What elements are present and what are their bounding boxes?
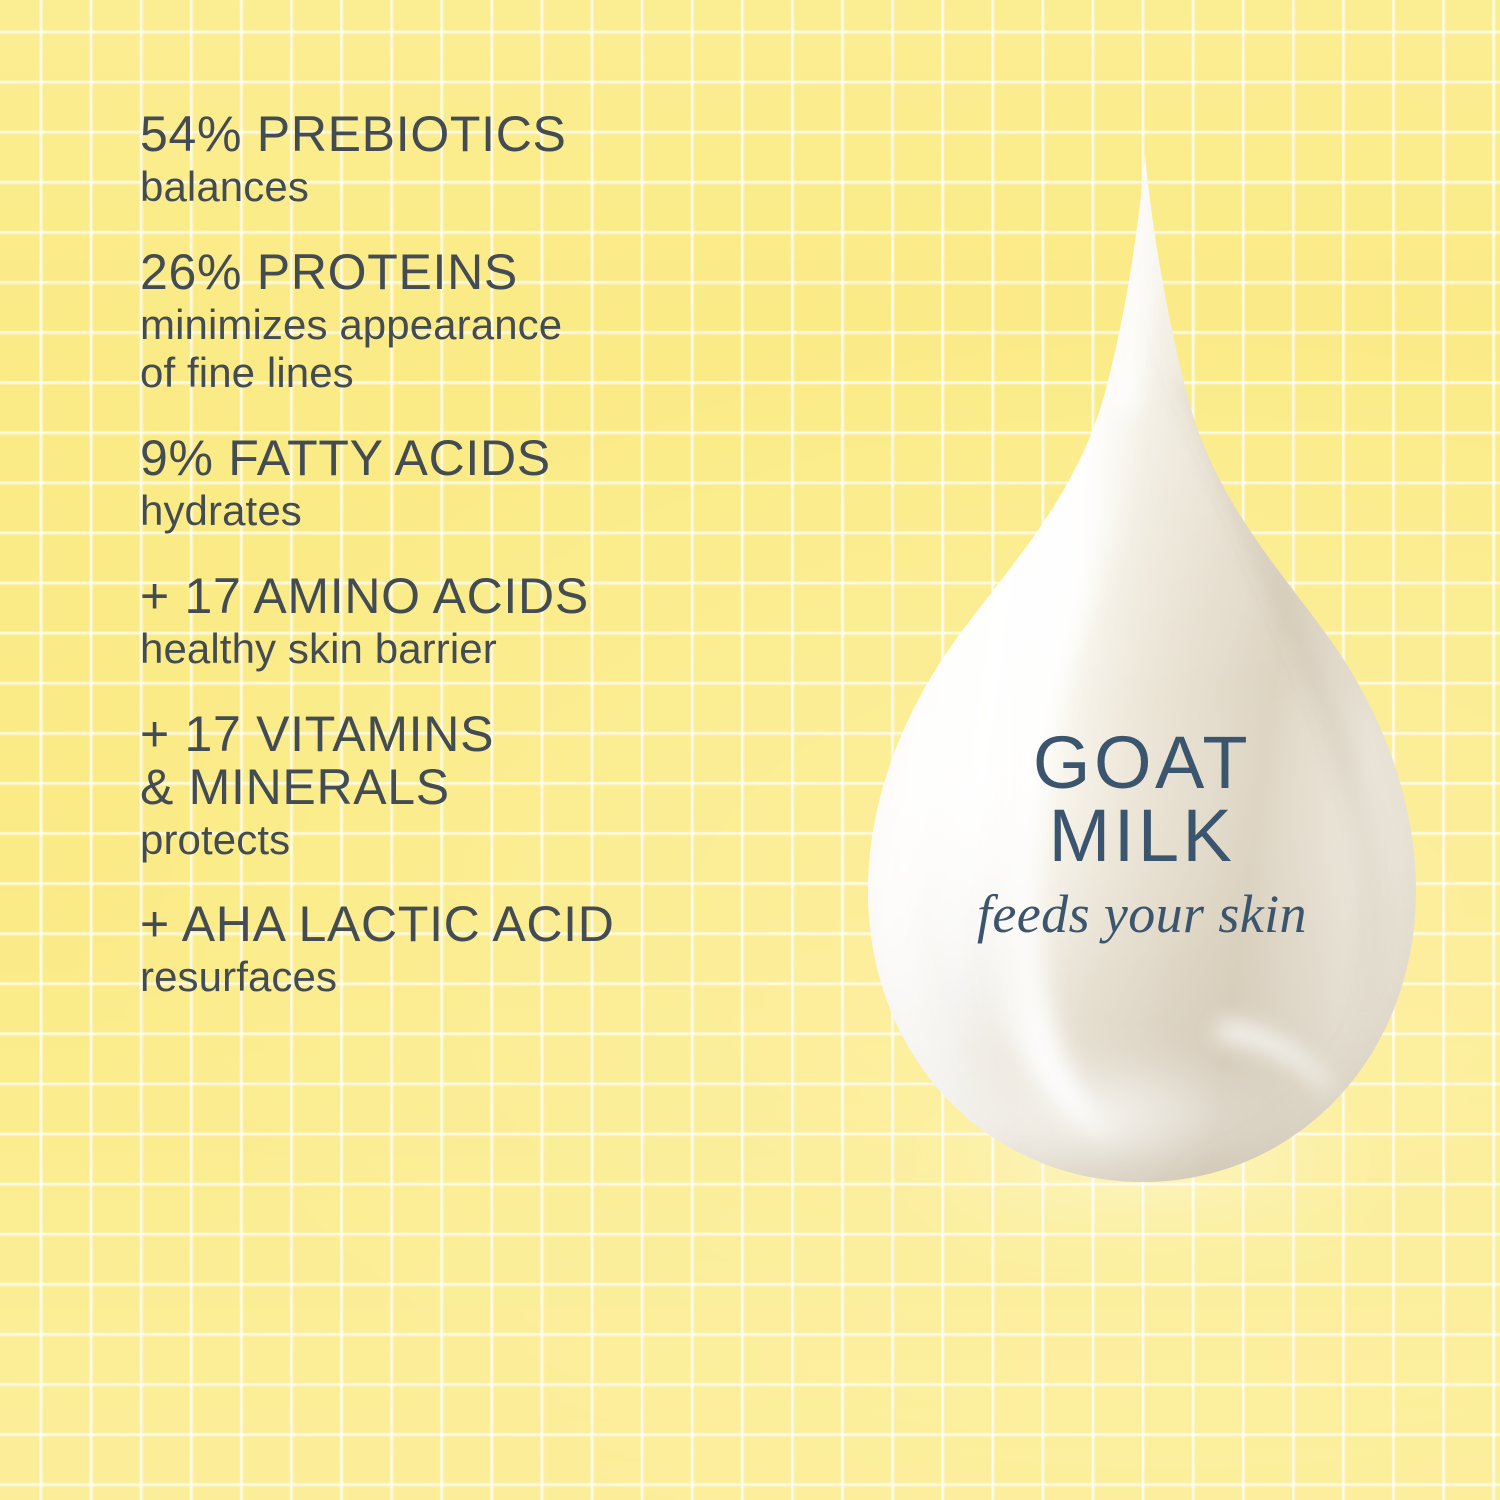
ingredient-benefit: resurfaces: [140, 953, 840, 1002]
ingredient-benefit: hydrates: [140, 487, 840, 536]
droplet-shading-group: [836, 148, 1448, 1208]
ingredient-benefit: balances: [140, 163, 840, 212]
ingredient-item-aha-lactic-acid: + AHA LACTIC ACID resurfaces: [140, 898, 840, 1002]
ingredient-item-vitamins-minerals: + 17 VITAMINS & MINERALS protects: [140, 708, 840, 865]
ingredient-list: 54% PREBIOTICS balances 26% PROTEINS min…: [140, 108, 840, 1002]
ingredient-headline: + 17 VITAMINS & MINERALS: [140, 708, 840, 814]
ingredient-headline: 26% PROTEINS: [140, 246, 840, 299]
ingredient-headline: 54% PREBIOTICS: [140, 108, 840, 161]
ingredient-benefit: protects: [140, 816, 840, 865]
ingredient-headline: + AHA LACTIC ACID: [140, 898, 840, 951]
ingredient-item-proteins: 26% PROTEINS minimizes appearance of fin…: [140, 246, 840, 398]
ingredient-item-prebiotics: 54% PREBIOTICS balances: [140, 108, 840, 212]
ingredient-item-fatty-acids: 9% FATTY ACIDS hydrates: [140, 432, 840, 536]
milk-droplet-graphic: GOAT MILK feeds your skin: [836, 148, 1448, 1208]
ingredient-headline: + 17 AMINO ACIDS: [140, 570, 840, 623]
ingredient-benefit: healthy skin barrier: [140, 625, 840, 674]
ingredient-item-amino-acids: + 17 AMINO ACIDS healthy skin barrier: [140, 570, 840, 674]
infographic-canvas: 54% PREBIOTICS balances 26% PROTEINS min…: [0, 0, 1500, 1500]
ingredient-benefit: minimizes appearance of fine lines: [140, 301, 840, 398]
milk-droplet-icon: [836, 148, 1448, 1208]
ingredient-headline: 9% FATTY ACIDS: [140, 432, 840, 485]
